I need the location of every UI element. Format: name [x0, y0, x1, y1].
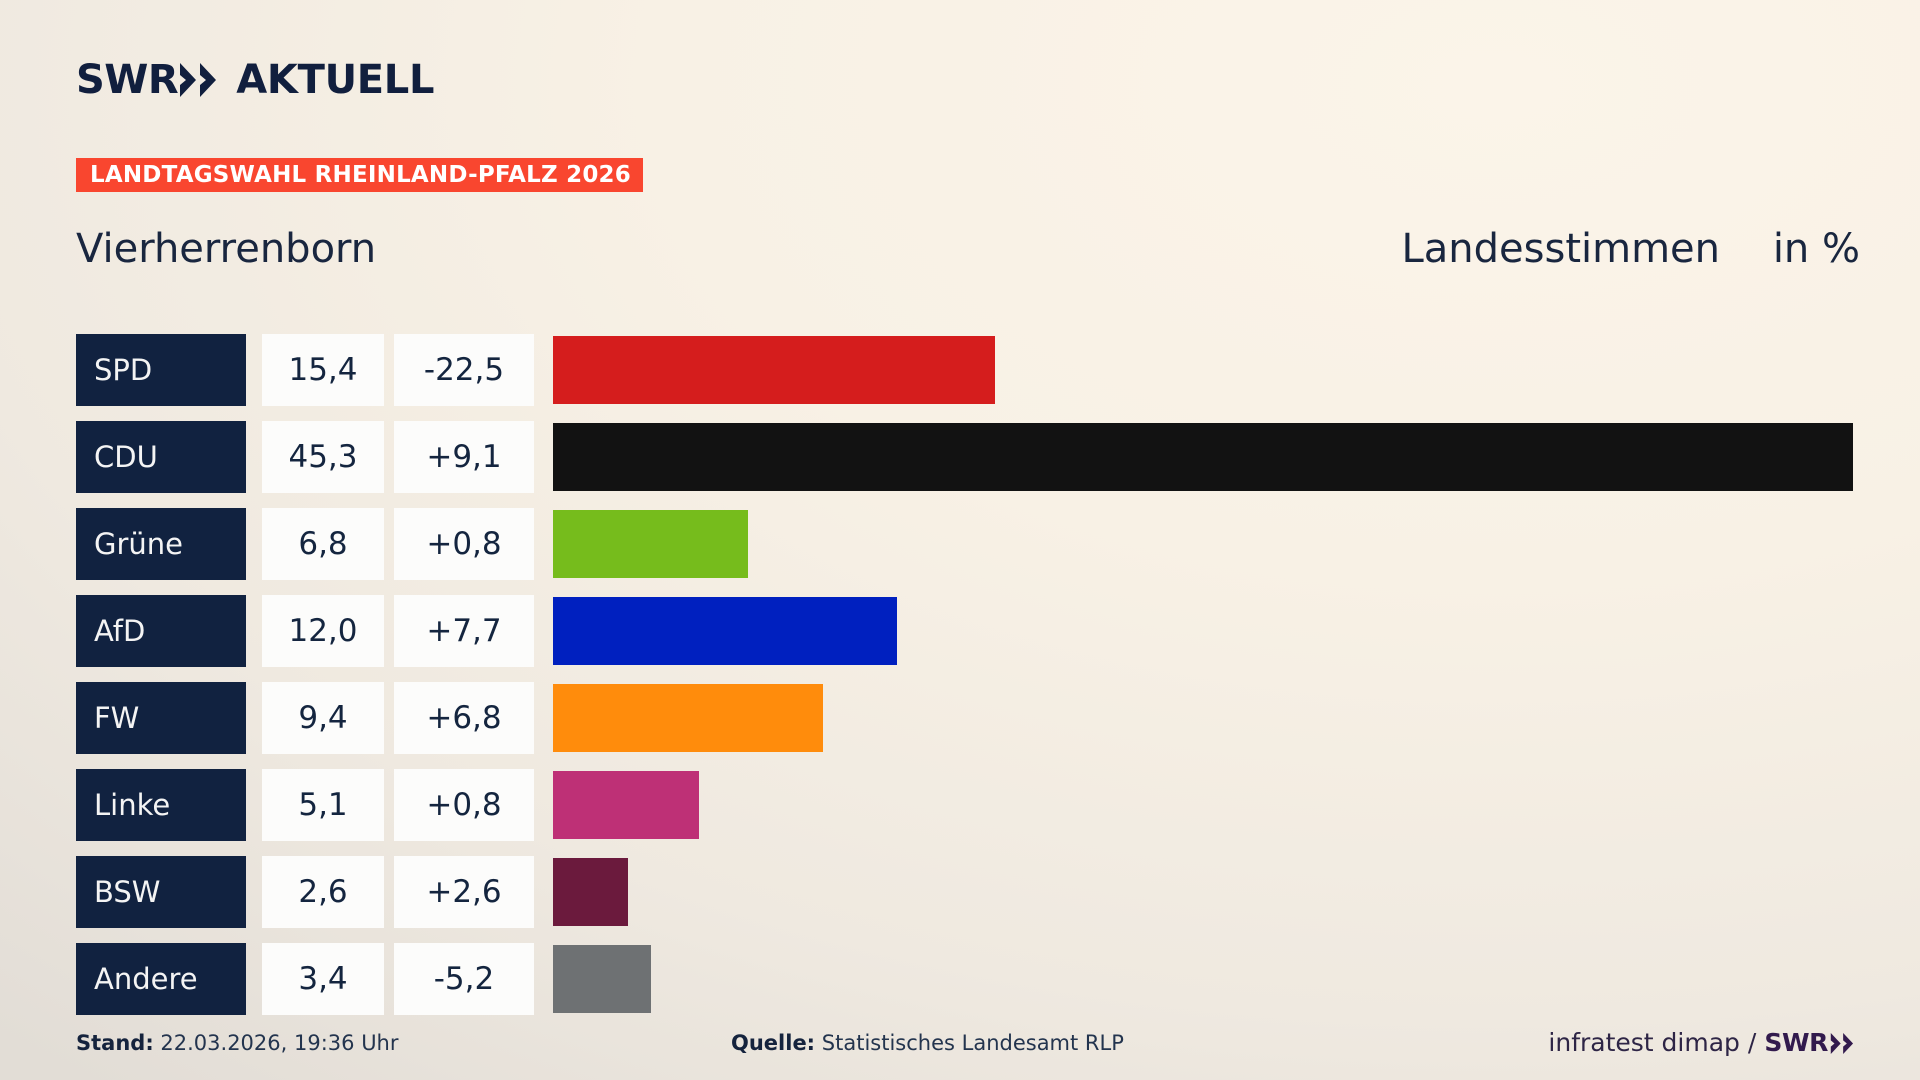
party-change-value: +9,1: [426, 442, 501, 473]
stand-label: Stand:: [76, 1031, 154, 1055]
party-name: Andere: [94, 965, 198, 994]
bar-track: [553, 421, 1866, 493]
party-change-cell: +6,8: [394, 682, 534, 754]
election-result-graphic: SWR AKTUELL LANDTAGSWAHL RHEINLAND-PFALZ…: [0, 0, 1920, 1080]
party-change-cell: +2,6: [394, 856, 534, 928]
result-row: Linke5,1+0,8: [76, 769, 1866, 856]
party-result-value: 6,8: [298, 529, 347, 560]
party-name: CDU: [94, 443, 158, 472]
footer: Stand: 22.03.2026, 19:36 Uhr Quelle: Sta…: [76, 1028, 1860, 1062]
party-result-value: 5,1: [298, 790, 347, 821]
credit-block: infratest dimap / SWR: [1548, 1028, 1860, 1058]
result-row: AfD12,0+7,7: [76, 595, 1866, 682]
party-label-cell: BSW: [76, 856, 246, 928]
party-change-value: +7,7: [426, 616, 501, 647]
party-change-value: +6,8: [426, 703, 501, 734]
party-result-cell: 9,4: [262, 682, 384, 754]
party-bar: [553, 945, 651, 1013]
party-name: Grüne: [94, 530, 183, 559]
stand-value: 22.03.2026, 19:36 Uhr: [160, 1031, 398, 1055]
party-change-cell: +0,8: [394, 769, 534, 841]
party-result-value: 15,4: [288, 355, 357, 386]
party-bar: [553, 771, 699, 839]
result-row: FW9,4+6,8: [76, 682, 1866, 769]
party-result-cell: 6,8: [262, 508, 384, 580]
party-change-cell: +0,8: [394, 508, 534, 580]
party-label-cell: SPD: [76, 334, 246, 406]
party-bar: [553, 597, 897, 665]
party-label-cell: Grüne: [76, 508, 246, 580]
party-name: Linke: [94, 791, 170, 820]
party-result-cell: 3,4: [262, 943, 384, 1015]
swr-aktuell-logo: SWR AKTUELL: [76, 56, 434, 104]
unit-label: in %: [1773, 222, 1860, 276]
double-chevron-right-icon: [1830, 1033, 1860, 1054]
vote-type-label: Landesstimmen: [1401, 222, 1720, 276]
party-bar: [553, 684, 823, 752]
region-name: Vierherrenborn: [76, 222, 376, 276]
bar-track: [553, 334, 1866, 406]
party-change-cell: -22,5: [394, 334, 534, 406]
party-result-value: 45,3: [288, 442, 357, 473]
subtitle-row: Vierherrenborn Landesstimmen in %: [76, 222, 1860, 276]
party-bar: [553, 336, 995, 404]
result-row: Andere3,4-5,2: [76, 943, 1866, 1030]
bar-track: [553, 595, 1866, 667]
party-result-cell: 12,0: [262, 595, 384, 667]
results-bar-chart: SPD15,4-22,5CDU45,3+9,1Grüne6,8+0,8AfD12…: [76, 334, 1866, 1030]
party-result-value: 12,0: [288, 616, 357, 647]
quelle-value: Statistisches Landesamt RLP: [822, 1031, 1124, 1055]
credit-broadcaster: SWR: [1764, 1028, 1828, 1058]
party-change-value: -5,2: [434, 964, 495, 995]
result-row: SPD15,4-22,5: [76, 334, 1866, 421]
party-label-cell: CDU: [76, 421, 246, 493]
party-label-cell: AfD: [76, 595, 246, 667]
logo-swr-text: SWR: [76, 60, 178, 100]
party-bar: [553, 510, 748, 578]
party-result-value: 3,4: [298, 964, 347, 995]
bar-track: [553, 943, 1866, 1015]
election-title-text: LANDTAGSWAHL RHEINLAND-PFALZ 2026: [90, 164, 631, 187]
quelle-label: Quelle:: [731, 1031, 815, 1055]
credit-agency: infratest dimap: [1548, 1028, 1740, 1058]
party-name: SPD: [94, 356, 152, 385]
party-change-cell: -5,2: [394, 943, 534, 1015]
party-label-cell: FW: [76, 682, 246, 754]
party-result-cell: 45,3: [262, 421, 384, 493]
party-result-value: 9,4: [298, 703, 347, 734]
result-row: CDU45,3+9,1: [76, 421, 1866, 508]
party-change-value: +0,8: [426, 790, 501, 821]
party-result-cell: 5,1: [262, 769, 384, 841]
party-change-cell: +7,7: [394, 595, 534, 667]
logo-aktuell-text: AKTUELL: [236, 60, 434, 100]
party-name: BSW: [94, 878, 160, 907]
bar-track: [553, 769, 1866, 841]
party-result-cell: 15,4: [262, 334, 384, 406]
party-result-cell: 2,6: [262, 856, 384, 928]
timestamp-label: Stand: 22.03.2026, 19:36 Uhr: [76, 1028, 399, 1058]
party-name: FW: [94, 704, 139, 733]
party-bar: [553, 858, 628, 926]
bar-track: [553, 508, 1866, 580]
party-bar: [553, 423, 1853, 491]
party-change-value: +2,6: [426, 877, 501, 908]
credit-separator: /: [1748, 1028, 1756, 1058]
bar-track: [553, 856, 1866, 928]
bar-track: [553, 682, 1866, 754]
party-label-cell: Linke: [76, 769, 246, 841]
party-label-cell: Andere: [76, 943, 246, 1015]
election-title-banner: LANDTAGSWAHL RHEINLAND-PFALZ 2026: [76, 158, 643, 192]
party-name: AfD: [94, 617, 145, 646]
party-result-value: 2,6: [298, 877, 347, 908]
party-change-cell: +9,1: [394, 421, 534, 493]
result-row: BSW2,6+2,6: [76, 856, 1866, 943]
party-change-value: +0,8: [426, 529, 501, 560]
party-change-value: -22,5: [424, 355, 504, 386]
source-label: Quelle: Statistisches Landesamt RLP: [731, 1028, 1124, 1058]
result-row: Grüne6,8+0,8: [76, 508, 1866, 595]
double-chevron-right-icon: [180, 63, 226, 97]
